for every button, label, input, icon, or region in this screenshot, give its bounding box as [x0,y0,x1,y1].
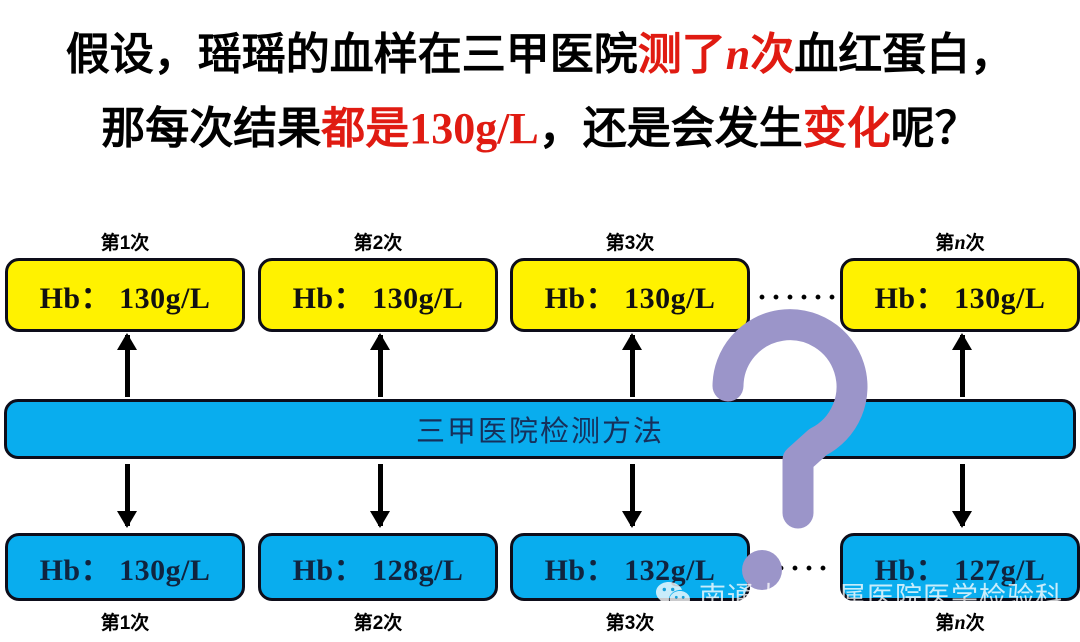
label-index: n [954,612,965,634]
top-result-value-2: Hb： 130g/L [293,273,464,317]
label-suffix: 次 [383,613,402,634]
title-seg-red-measure: 测了 [638,30,726,79]
top-label-n: 第n次 [840,228,1080,255]
title-line-1: 假设，瑶瑶的血样在三甲医院测了n次血红蛋白， [0,18,1080,92]
label-suffix: 次 [635,233,654,254]
label-prefix: 第 [606,233,625,254]
label-prefix: 第 [354,613,373,634]
method-bar-label: 三甲医院检测方法 [416,408,664,450]
top-label-2: 第2次 [258,228,498,255]
title-seg-plain-2: 血红蛋白， [794,30,1014,79]
label-suffix: 次 [383,233,402,254]
bottom-result-box-2[interactable]: Hb： 128g/L [258,533,498,601]
wechat-icon [655,580,691,610]
label-prefix: 第 [354,233,373,254]
title-line-2: 那每次结果都是130g/L，还是会发生变化呢？ [0,92,1080,166]
title-seg-red-times: 次 [750,30,794,79]
label-index: 2 [373,613,384,634]
method-bar[interactable]: 三甲医院检测方法 [4,399,1076,459]
label-prefix: 第 [935,613,954,634]
label-prefix: 第 [101,613,120,634]
top-result-box-n[interactable]: Hb： 130g/L [840,258,1080,332]
label-suffix: 次 [130,233,149,254]
label-index: 1 [120,233,131,254]
label-suffix: 次 [635,613,654,634]
watermark-text: 南通大学附属医院医学检验科 [699,575,1063,614]
top-result-box-2[interactable]: Hb： 130g/L [258,258,498,332]
label-suffix: 次 [130,613,149,634]
top-result-value-3: Hb： 130g/L [545,273,716,317]
label-index: 2 [373,233,384,254]
title-seg-red-value: 130g/L [409,104,539,153]
bottom-label-2: 第2次 [258,608,498,635]
slide-canvas: 假设，瑶瑶的血样在三甲医院测了n次血红蛋白， 那每次结果都是130g/L，还是会… [0,0,1080,642]
top-result-box-3[interactable]: Hb： 130g/L [510,258,750,332]
top-result-box-1[interactable]: Hb： 130g/L [5,258,245,332]
title-seg-red-allare: 都是 [321,104,409,153]
bottom-result-box-1[interactable]: Hb： 130g/L [5,533,245,601]
title-seg-plain-5: 呢？ [891,104,979,153]
bottom-result-value-2: Hb： 128g/L [293,545,464,589]
top-result-value-1: Hb： 130g/L [40,273,211,317]
bottom-label-1: 第1次 [5,608,245,635]
label-prefix: 第 [101,233,120,254]
label-index: 3 [625,233,636,254]
watermark: 南通大学附属医院医学检验科 [655,575,1063,614]
label-prefix: 第 [935,233,954,254]
title-seg-plain-3: 那每次结果 [101,104,321,153]
bottom-result-value-1: Hb： 130g/L [40,545,211,589]
top-ellipsis: ······ [757,283,841,313]
title-seg-red-change: 变化 [803,104,891,153]
label-index: 1 [120,613,131,634]
title-seg-plain-1: 假设，瑶瑶的血样在三甲医院 [66,30,638,79]
label-prefix: 第 [606,613,625,634]
label-suffix: 次 [966,233,985,254]
title-seg-red-n: n [726,30,750,79]
top-label-3: 第3次 [510,228,750,255]
label-index: 3 [625,613,636,634]
label-suffix: 次 [966,613,985,634]
top-result-value-n: Hb： 130g/L [875,273,1046,317]
title-seg-plain-4: ，还是会发生 [539,104,803,153]
label-index: n [954,232,965,254]
slide-title: 假设，瑶瑶的血样在三甲医院测了n次血红蛋白， 那每次结果都是130g/L，还是会… [0,18,1080,166]
top-label-1: 第1次 [5,228,245,255]
